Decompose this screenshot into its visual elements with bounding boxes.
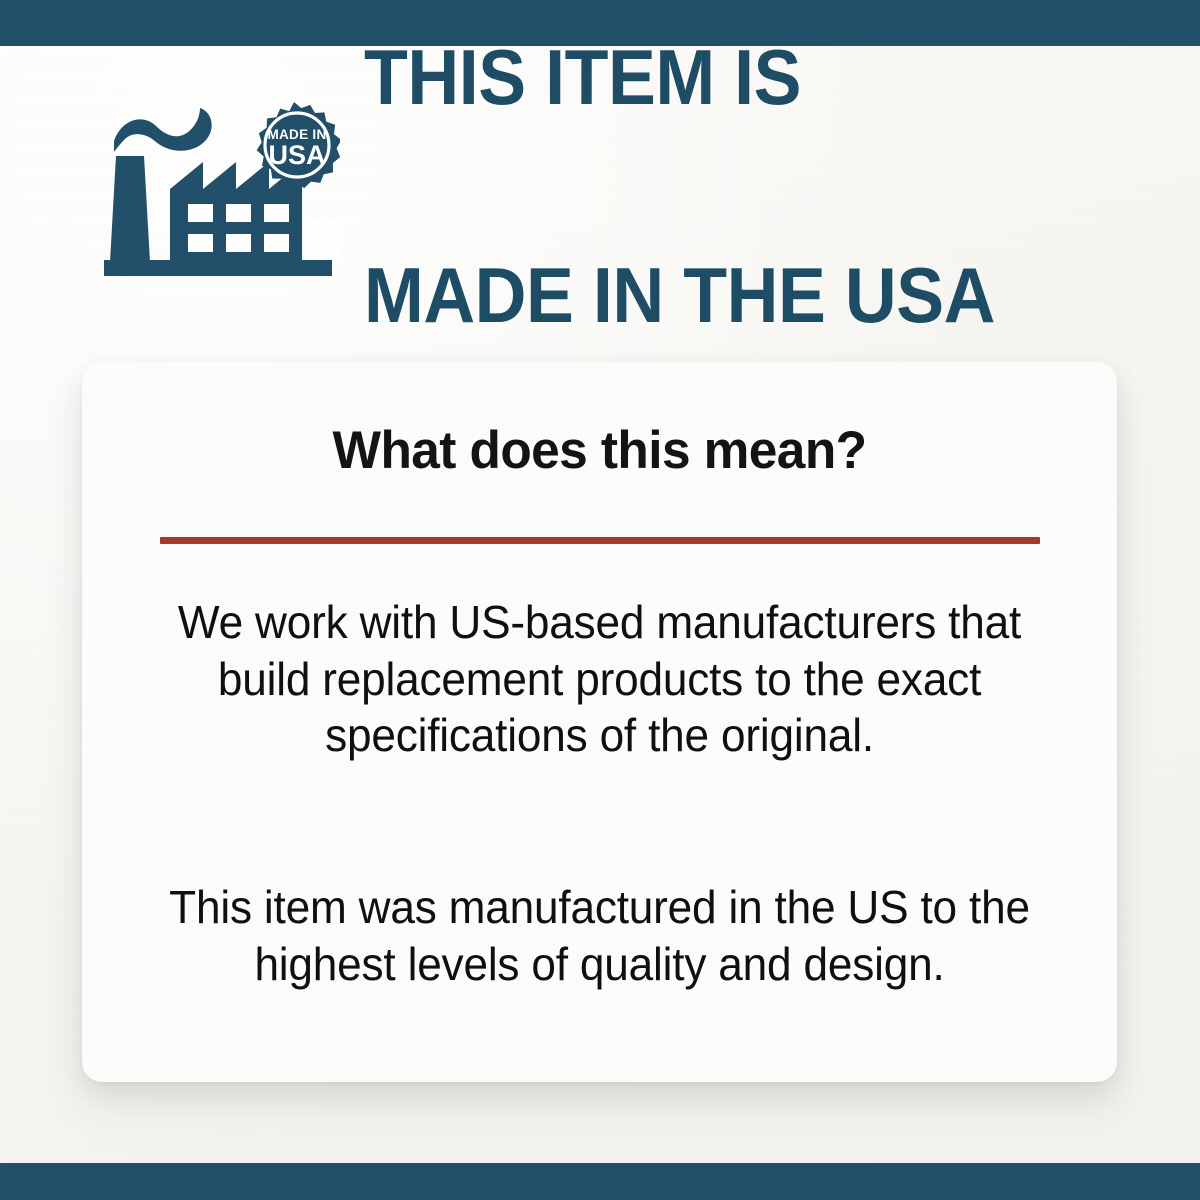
card-heading: What does this mean?: [98, 420, 1102, 481]
factory-icon: MADE IN USA: [100, 94, 340, 279]
card-paragraph-1: We work with US-based manufacturers that…: [156, 594, 1044, 764]
card-paragraph-2: This item was manufactured in the US to …: [156, 879, 1044, 992]
card-divider: [160, 537, 1040, 544]
card-paragraph-2-text: This item was manufactured in the US to …: [156, 879, 1044, 992]
svg-text:USA: USA: [268, 140, 325, 170]
bottom-accent-band: [0, 1163, 1200, 1200]
header-banner: MADE IN USA THIS ITEM IS MADE IN THE USA: [0, 86, 1200, 286]
info-card: What does this mean? We work with US-bas…: [82, 362, 1117, 1082]
page-root: MADE IN USA THIS ITEM IS MADE IN THE USA…: [0, 0, 1200, 1200]
headline-line-1: THIS ITEM IS: [364, 41, 995, 114]
made-in-usa-badge-icon: MADE IN USA: [257, 102, 340, 188]
card-paragraph-1-text: We work with US-based manufacturers that…: [156, 594, 1044, 764]
headline-line-2: MADE IN THE USA: [364, 259, 995, 332]
